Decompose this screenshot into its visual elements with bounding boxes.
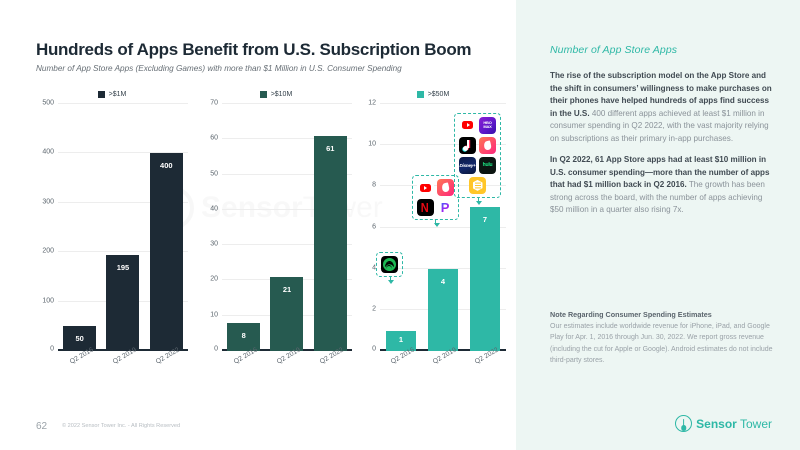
chart-legend: >$1M xyxy=(32,88,192,100)
bar[interactable]: 4 xyxy=(428,269,458,351)
legend-swatch-icon xyxy=(260,91,267,98)
legend-label: >$50M xyxy=(428,91,450,98)
x-label-slot: Q2 2019 xyxy=(265,349,308,383)
y-tick-label: 300 xyxy=(42,198,54,205)
netflix-icon: N xyxy=(417,199,434,216)
youtube-icon xyxy=(417,179,434,196)
hulu-icon: hulu xyxy=(479,157,496,174)
bar-slot: 50 xyxy=(58,104,101,351)
bar-value-label: 7 xyxy=(483,215,487,224)
callout-tail xyxy=(478,197,479,203)
y-tick-label: 500 xyxy=(42,100,54,107)
tinder-icon xyxy=(437,179,454,196)
x-axis-labels: Q2 2016 Q2 2019 Q2 2022 xyxy=(380,349,506,383)
x-tick-label: Q2 2022 xyxy=(155,346,193,385)
y-tick-label: 200 xyxy=(42,248,54,255)
y-tick-label: 20 xyxy=(210,276,218,283)
x-label-slot: Q2 2022 xyxy=(309,349,352,383)
x-tick-label: Q2 2022 xyxy=(319,346,357,385)
commentary-paragraph: The rise of the subscription model on th… xyxy=(550,70,774,145)
commentary-panel: Number of App Store Apps The rise of the… xyxy=(516,0,800,450)
bumble-icon xyxy=(469,177,486,194)
commentary-body: The rise of the subscription model on th… xyxy=(550,70,774,226)
hbo-max-icon: HBOMAX xyxy=(479,117,496,134)
x-label-slot: Q2 2019 xyxy=(422,349,464,383)
charts-row: >$1M 500 400 300 200 100 0 50 xyxy=(0,88,516,393)
logo-text: Sensor Tower xyxy=(696,417,772,431)
youtube-icon xyxy=(459,117,476,134)
page-title: Hundreds of Apps Benefit from U.S. Subsc… xyxy=(36,40,471,60)
x-tick-label: Q2 2022 xyxy=(474,346,512,385)
x-axis-labels: Q2 2016 Q2 2019 Q2 2022 xyxy=(58,349,188,383)
y-tick-label: 0 xyxy=(372,346,376,353)
spotify-icon xyxy=(381,256,398,273)
pandora-icon: P xyxy=(437,199,454,216)
bars-group: 50 195 400 xyxy=(58,104,188,351)
x-axis-labels: Q2 2016 Q2 2019 Q2 2022 xyxy=(222,349,352,383)
x-label-slot: Q2 2016 xyxy=(222,349,265,383)
y-tick-label: 6 xyxy=(372,223,376,230)
plot-area: 12 10 8 6 4 2 0 1 xyxy=(380,104,506,351)
bar[interactable]: 61 xyxy=(314,136,347,351)
bar-slot: 61 xyxy=(309,104,352,351)
bars-group: 8 21 61 xyxy=(222,104,352,351)
x-label-slot: Q2 2016 xyxy=(58,349,101,383)
chart-legend: >$50M xyxy=(358,88,508,100)
chart-legend: >$10M xyxy=(196,88,356,100)
logo-text-light: Tower xyxy=(740,417,772,431)
bar-value-label: 195 xyxy=(117,263,130,272)
bar[interactable]: 21 xyxy=(270,277,303,351)
bar-value-label: 1 xyxy=(399,335,403,344)
legend-label: >$10M xyxy=(271,91,293,98)
app-callout-q2-2022: HBOMAX Disney+ hulu xyxy=(454,113,501,198)
bar-value-label: 400 xyxy=(160,161,173,170)
y-tick-label: 0 xyxy=(50,346,54,353)
callout-tail xyxy=(435,219,436,225)
y-tick-label: 0 xyxy=(214,346,218,353)
app-callout-q2-2019: N P xyxy=(412,175,459,220)
chart-panel: Hundreds of Apps Benefit from U.S. Subsc… xyxy=(0,0,516,450)
bar-slot: 21 xyxy=(265,104,308,351)
x-tick-label: Q2 2019 xyxy=(112,346,150,385)
bar-slot: 400 xyxy=(145,104,188,351)
y-tick-label: 10 xyxy=(368,141,376,148)
sensor-tower-logo: Sensor Tower xyxy=(675,415,772,432)
y-tick-label: 30 xyxy=(210,241,218,248)
chart-over-1m: >$1M 500 400 300 200 100 0 50 xyxy=(32,88,192,393)
x-tick-label: Q2 2019 xyxy=(276,346,314,385)
legend-label: >$1M xyxy=(109,91,127,98)
copyright-text: © 2022 Sensor Tower Inc. - All Rights Re… xyxy=(62,423,180,429)
sensor-tower-mark-icon xyxy=(675,415,692,432)
x-tick-label: Q2 2016 xyxy=(232,346,270,385)
bar-value-label: 4 xyxy=(441,277,445,286)
note-title: Note Regarding Consumer Spending Estimat… xyxy=(550,310,778,319)
callout-tail xyxy=(390,276,391,282)
bar-slot: 195 xyxy=(101,104,144,351)
commentary-heading: Number of App Store Apps xyxy=(550,44,677,56)
bar[interactable]: 195 xyxy=(106,255,139,351)
bar-value-label: 21 xyxy=(283,285,291,294)
bar-slot: 1 xyxy=(380,104,422,351)
y-tick-label: 400 xyxy=(42,149,54,156)
x-tick-label: Q2 2016 xyxy=(68,346,106,385)
note-body: Our estimates include worldwide revenue … xyxy=(550,321,778,366)
app-callout-q2-2016 xyxy=(376,252,403,277)
plot-area: 500 400 300 200 100 0 50 xyxy=(58,104,188,351)
y-tick-label: 2 xyxy=(372,305,376,312)
bar[interactable]: 7 xyxy=(470,207,500,351)
tiktok-icon xyxy=(459,137,476,154)
page-subtitle: Number of App Store Apps (Excluding Game… xyxy=(36,64,402,73)
bar-slot: 8 xyxy=(222,104,265,351)
bar-value-label: 8 xyxy=(242,331,246,340)
tinder-icon xyxy=(479,137,496,154)
methodology-note: Note Regarding Consumer Spending Estimat… xyxy=(550,310,778,366)
page-number: 62 xyxy=(36,421,47,432)
bar-value-label: 50 xyxy=(75,334,83,343)
y-tick-label: 60 xyxy=(210,135,218,142)
y-tick-label: 40 xyxy=(210,205,218,212)
bar-value-label: 61 xyxy=(326,144,334,153)
y-tick-label: 70 xyxy=(210,100,218,107)
disney-plus-icon: Disney+ xyxy=(459,157,476,174)
y-tick-label: 8 xyxy=(372,182,376,189)
y-tick-label: 50 xyxy=(210,170,218,177)
x-label-slot: Q2 2019 xyxy=(101,349,144,383)
legend-swatch-icon xyxy=(98,91,105,98)
bar[interactable]: 400 xyxy=(150,153,183,351)
y-tick-label: 100 xyxy=(42,297,54,304)
commentary-paragraph: In Q2 2022, 61 App Store apps had at lea… xyxy=(550,154,774,217)
chart-over-10m: >$10M 70 60 50 40 30 20 10 0 xyxy=(196,88,356,393)
chart-over-50m: >$50M 12 10 8 6 4 2 0 xyxy=(358,88,508,393)
y-tick-label: 10 xyxy=(210,311,218,318)
slide-page: Hundreds of Apps Benefit from U.S. Subsc… xyxy=(0,0,800,450)
y-tick-label: 12 xyxy=(368,100,376,107)
x-label-slot: Q2 2022 xyxy=(145,349,188,383)
plot-area: 70 60 50 40 30 20 10 0 8 xyxy=(222,104,352,351)
legend-swatch-icon xyxy=(417,91,424,98)
logo-text-bold: Sensor xyxy=(696,417,737,431)
x-label-slot: Q2 2016 xyxy=(380,349,422,383)
x-label-slot: Q2 2022 xyxy=(464,349,506,383)
